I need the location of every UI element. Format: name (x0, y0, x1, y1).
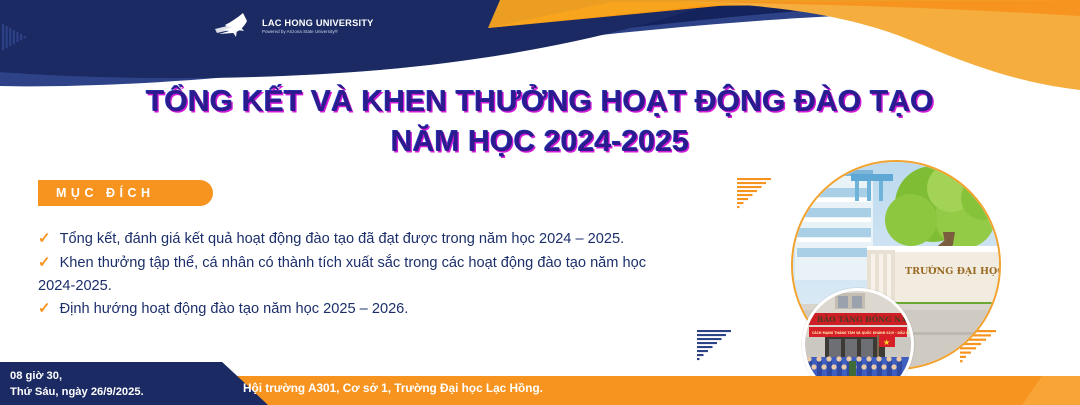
event-venue: Hội trường A301, Cơ sở 1, Trường Đại học… (243, 381, 543, 395)
event-time-line-2: Thứ Sáu, ngày 26/9/2025. (10, 385, 144, 401)
event-time-line-1: 08 giờ 30, (10, 369, 144, 385)
footer-bars (0, 0, 1080, 405)
event-banner: LAC HONG UNIVERSITY Powered by Arizona S… (0, 0, 1080, 405)
event-time: 08 giờ 30, Thứ Sáu, ngày 26/9/2025. (10, 369, 144, 401)
